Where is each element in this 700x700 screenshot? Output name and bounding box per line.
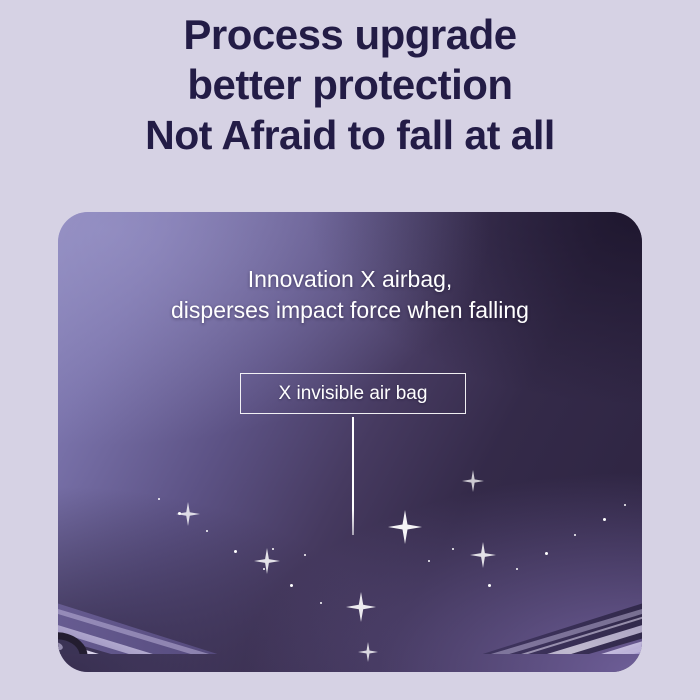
panel-caption-line-2: disperses impact force when falling [58,295,642,326]
panel-caption-line-1: Innovation X airbag, [58,264,642,295]
headline-line-1: Process upgrade [0,14,700,56]
panel-caption: Innovation X airbag, disperses impact fo… [58,264,642,326]
headline-line-2: better protection [0,64,700,106]
headline-block: Process upgrade better protection Not Af… [0,14,700,156]
product-feature-panel: Innovation X airbag, disperses impact fo… [58,212,642,672]
callout-leader-line [352,417,354,535]
headline-line-3: Not Afraid to fall at all [0,115,700,156]
phone-case-illustration [58,394,642,654]
callout-label: X invisible air bag [279,383,428,405]
callout-box: X invisible air bag [240,373,466,414]
